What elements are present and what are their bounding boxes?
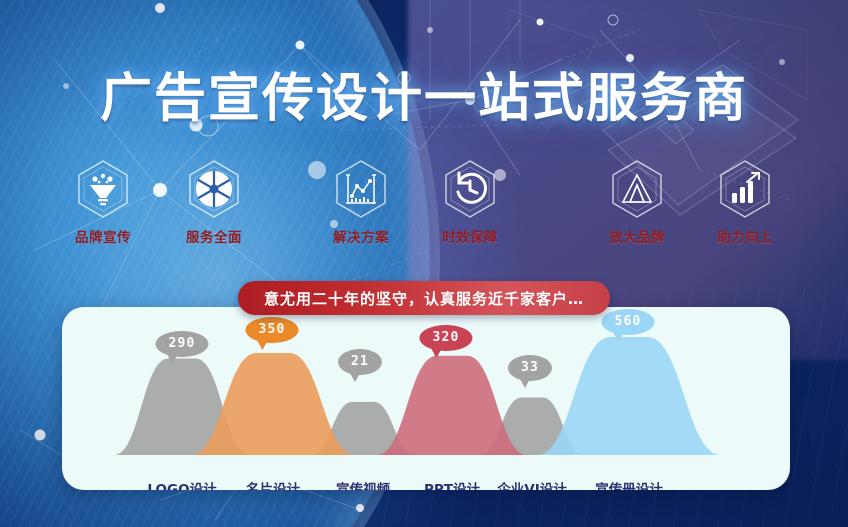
value-bubble: 290 [155, 331, 208, 364]
feature-item-solutions[interactable]: 解决方案 [313, 158, 409, 246]
category-label: PPT设计 [424, 478, 480, 490]
value-bubble: 320 [419, 325, 472, 358]
value-bubble-label: 560 [601, 309, 654, 335]
category-label: LOGO设计 [147, 478, 216, 490]
chart-graph-icon [330, 158, 392, 220]
area-series-6 [537, 337, 721, 455]
clock-history-icon [439, 158, 501, 220]
feature-label: 时效保障 [422, 226, 518, 246]
value-bubble: 21 [338, 349, 382, 382]
feature-icon-row: 品牌宣传 [0, 158, 848, 248]
value-bubble-label: 21 [338, 349, 382, 375]
feature-item-amplify-brand[interactable]: 放大品牌 [589, 158, 685, 246]
slogan-banner: 意尤用二十年的坚守，认真服务近千家客户… [238, 281, 610, 315]
value-bubble-label: 350 [245, 317, 298, 343]
area-series-4 [377, 356, 527, 455]
feature-item-boost-growth[interactable]: 助力向上 [697, 158, 793, 246]
value-bubble: 350 [245, 317, 298, 350]
category-label: 企业VI设计 [497, 478, 566, 490]
value-bubble: 560 [601, 309, 654, 342]
feature-label: 放大品牌 [589, 226, 685, 246]
feature-label: 助力向上 [697, 226, 793, 246]
value-bubble-label: 290 [155, 331, 208, 357]
slogan-text: 意尤用二十年的坚守，认真服务近千家客户… [264, 288, 584, 309]
megaphone-icon [72, 158, 134, 220]
chart-panel: 290 350 21 320 33 560 LOGO设计 名片设计 宣传视频 [62, 307, 790, 490]
feature-item-brand-promotion[interactable]: 品牌宣传 [55, 158, 151, 246]
category-label: 宣传册设计 [595, 478, 663, 490]
feature-item-timeliness[interactable]: 时效保障 [422, 158, 518, 246]
feature-label: 解决方案 [313, 226, 409, 246]
aperture-icon [183, 158, 245, 220]
feature-item-full-service[interactable]: 服务全面 [166, 158, 262, 246]
feature-label: 服务全面 [166, 226, 262, 246]
promotional-banner: 广告宣传设计一站式服务商 [0, 0, 848, 527]
page-title: 广告宣传设计一站式服务商 [0, 56, 848, 131]
category-label: 宣传视频 [336, 478, 390, 490]
triangle-icon [606, 158, 668, 220]
category-label: 名片设计 [246, 478, 300, 490]
bar-chart-up-icon [714, 158, 776, 220]
value-bubble-label: 33 [508, 355, 552, 381]
value-bubble-label: 320 [419, 325, 472, 351]
feature-label: 品牌宣传 [55, 226, 151, 246]
value-bubble: 33 [508, 355, 552, 388]
